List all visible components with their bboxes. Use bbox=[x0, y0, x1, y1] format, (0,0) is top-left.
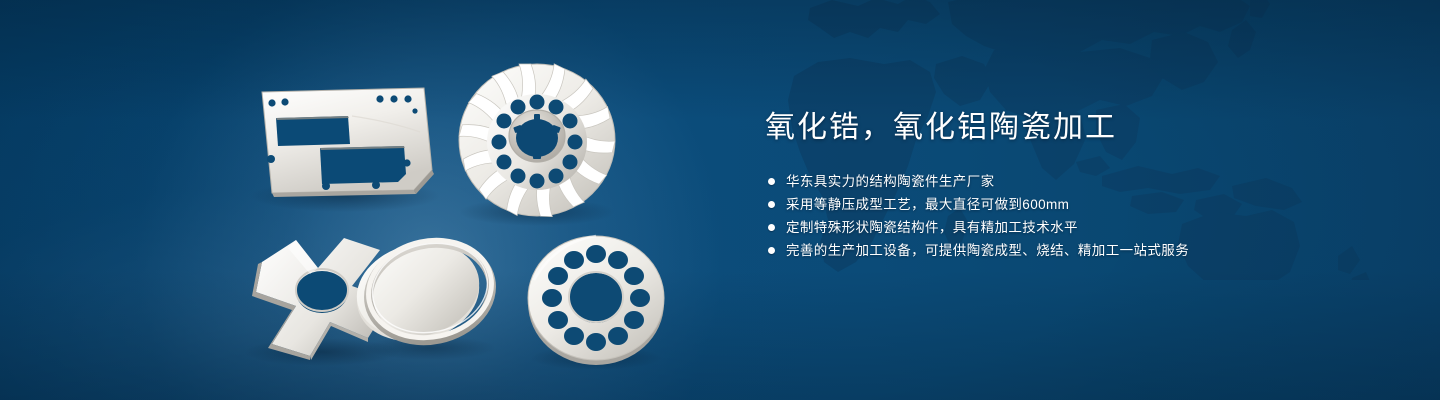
feature-text: 采用等静压成型工艺，最大直径可做到600mm bbox=[786, 193, 1069, 216]
page-title: 氧化锆，氧化铝陶瓷加工 bbox=[765, 108, 1385, 148]
bullet-dot-icon bbox=[768, 201, 775, 208]
ceramic-plate bbox=[250, 88, 440, 212]
bullet-dot-icon bbox=[768, 178, 775, 185]
bullet-dot-icon bbox=[768, 247, 775, 254]
feature-list: 华东具实力的结构陶瓷件生产厂家 采用等静压成型工艺，最大直径可做到600mm 定… bbox=[765, 170, 1385, 262]
list-item: 采用等静压成型工艺，最大直径可做到600mm bbox=[765, 193, 1385, 216]
feature-text: 定制特殊形状陶瓷结构件，具有精加工技术水平 bbox=[786, 216, 1078, 239]
feature-text: 完善的生产加工设备，可提供陶瓷成型、烧结、精加工一站式服务 bbox=[786, 239, 1189, 262]
list-item: 定制特殊形状陶瓷结构件，具有精加工技术水平 bbox=[765, 216, 1385, 239]
banner-text-block: 氧化锆，氧化铝陶瓷加工 华东具实力的结构陶瓷件生产厂家 采用等静压成型工艺，最大… bbox=[765, 108, 1385, 262]
list-item: 华东具实力的结构陶瓷件生产厂家 bbox=[765, 170, 1385, 193]
ceramic-impeller bbox=[459, 64, 615, 226]
bullet-dot-icon bbox=[768, 224, 775, 231]
hero-banner: 氧化锆，氧化铝陶瓷加工 华东具实力的结构陶瓷件生产厂家 采用等静压成型工艺，最大… bbox=[0, 0, 1440, 400]
ceramic-products-image bbox=[0, 0, 760, 400]
list-item: 完善的生产加工设备，可提供陶瓷成型、烧结、精加工一站式服务 bbox=[765, 239, 1385, 262]
ceramic-flange-disc bbox=[528, 236, 664, 370]
feature-text: 华东具实力的结构陶瓷件生产厂家 bbox=[786, 170, 995, 193]
